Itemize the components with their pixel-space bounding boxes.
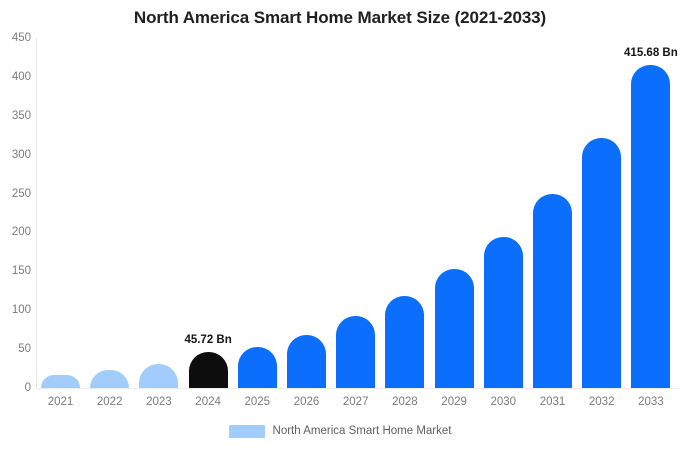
y-axis-tick: 300 — [0, 149, 31, 161]
x-axis-tick-2029: 2029 — [441, 396, 467, 408]
y-axis-tick: 450 — [0, 32, 31, 44]
bar-2032[interactable] — [582, 138, 621, 388]
x-axis-tick-labels: 2021202220232024202520262027202820292030… — [36, 396, 680, 412]
bar-2027[interactable] — [336, 316, 375, 388]
x-axis-tick-2022: 2022 — [97, 396, 123, 408]
bar-2023[interactable] — [139, 364, 178, 388]
bar-value-label-2024: 45.72 Bn — [184, 334, 231, 346]
bar-2021[interactable] — [41, 375, 80, 388]
x-axis-tick-2023: 2023 — [146, 396, 172, 408]
x-axis-tick-2033: 2033 — [638, 396, 664, 408]
bar-2026[interactable] — [287, 335, 326, 388]
x-axis-tick-2021: 2021 — [48, 396, 74, 408]
chart-title: North America Smart Home Market Size (20… — [0, 8, 680, 28]
legend-label: North America Smart Home Market — [273, 425, 452, 438]
x-axis-tick-2024: 2024 — [195, 396, 221, 408]
bar-2022[interactable] — [90, 370, 129, 388]
x-axis-tick-2026: 2026 — [294, 396, 320, 408]
x-axis-tick-2028: 2028 — [392, 396, 418, 408]
y-axis-tick-labels: 450400350300250200150100500 — [0, 38, 31, 389]
y-axis-tick: 100 — [0, 304, 31, 316]
bar-2025[interactable] — [238, 347, 277, 388]
chart-legend: North America Smart Home Market — [0, 425, 680, 438]
bar-2033[interactable] — [631, 65, 670, 388]
bar-2024[interactable] — [189, 352, 228, 388]
y-axis-tick: 250 — [0, 188, 31, 200]
bar-2029[interactable] — [435, 269, 474, 388]
y-axis-tick: 150 — [0, 265, 31, 277]
bar-2031[interactable] — [533, 194, 572, 388]
bar-chart: North America Smart Home Market Size (20… — [0, 0, 680, 450]
bar-2028[interactable] — [385, 296, 424, 388]
y-axis-tick: 400 — [0, 71, 31, 83]
y-axis-tick: 50 — [0, 343, 31, 355]
legend-swatch-icon — [229, 425, 265, 438]
bar-2030[interactable] — [484, 237, 523, 388]
y-axis-tick: 200 — [0, 226, 31, 238]
x-axis-tick-2030: 2030 — [491, 396, 517, 408]
x-axis-tick-2032: 2032 — [589, 396, 615, 408]
x-axis-tick-2031: 2031 — [540, 396, 566, 408]
x-axis-tick-2025: 2025 — [245, 396, 271, 408]
bars-layer: 45.72 Bn415.68 Bn — [36, 38, 680, 389]
x-axis-tick-2027: 2027 — [343, 396, 369, 408]
y-axis-tick: 0 — [0, 382, 31, 394]
y-axis-tick: 350 — [0, 110, 31, 122]
bar-value-label-2033: 415.68 Bn — [624, 47, 678, 59]
